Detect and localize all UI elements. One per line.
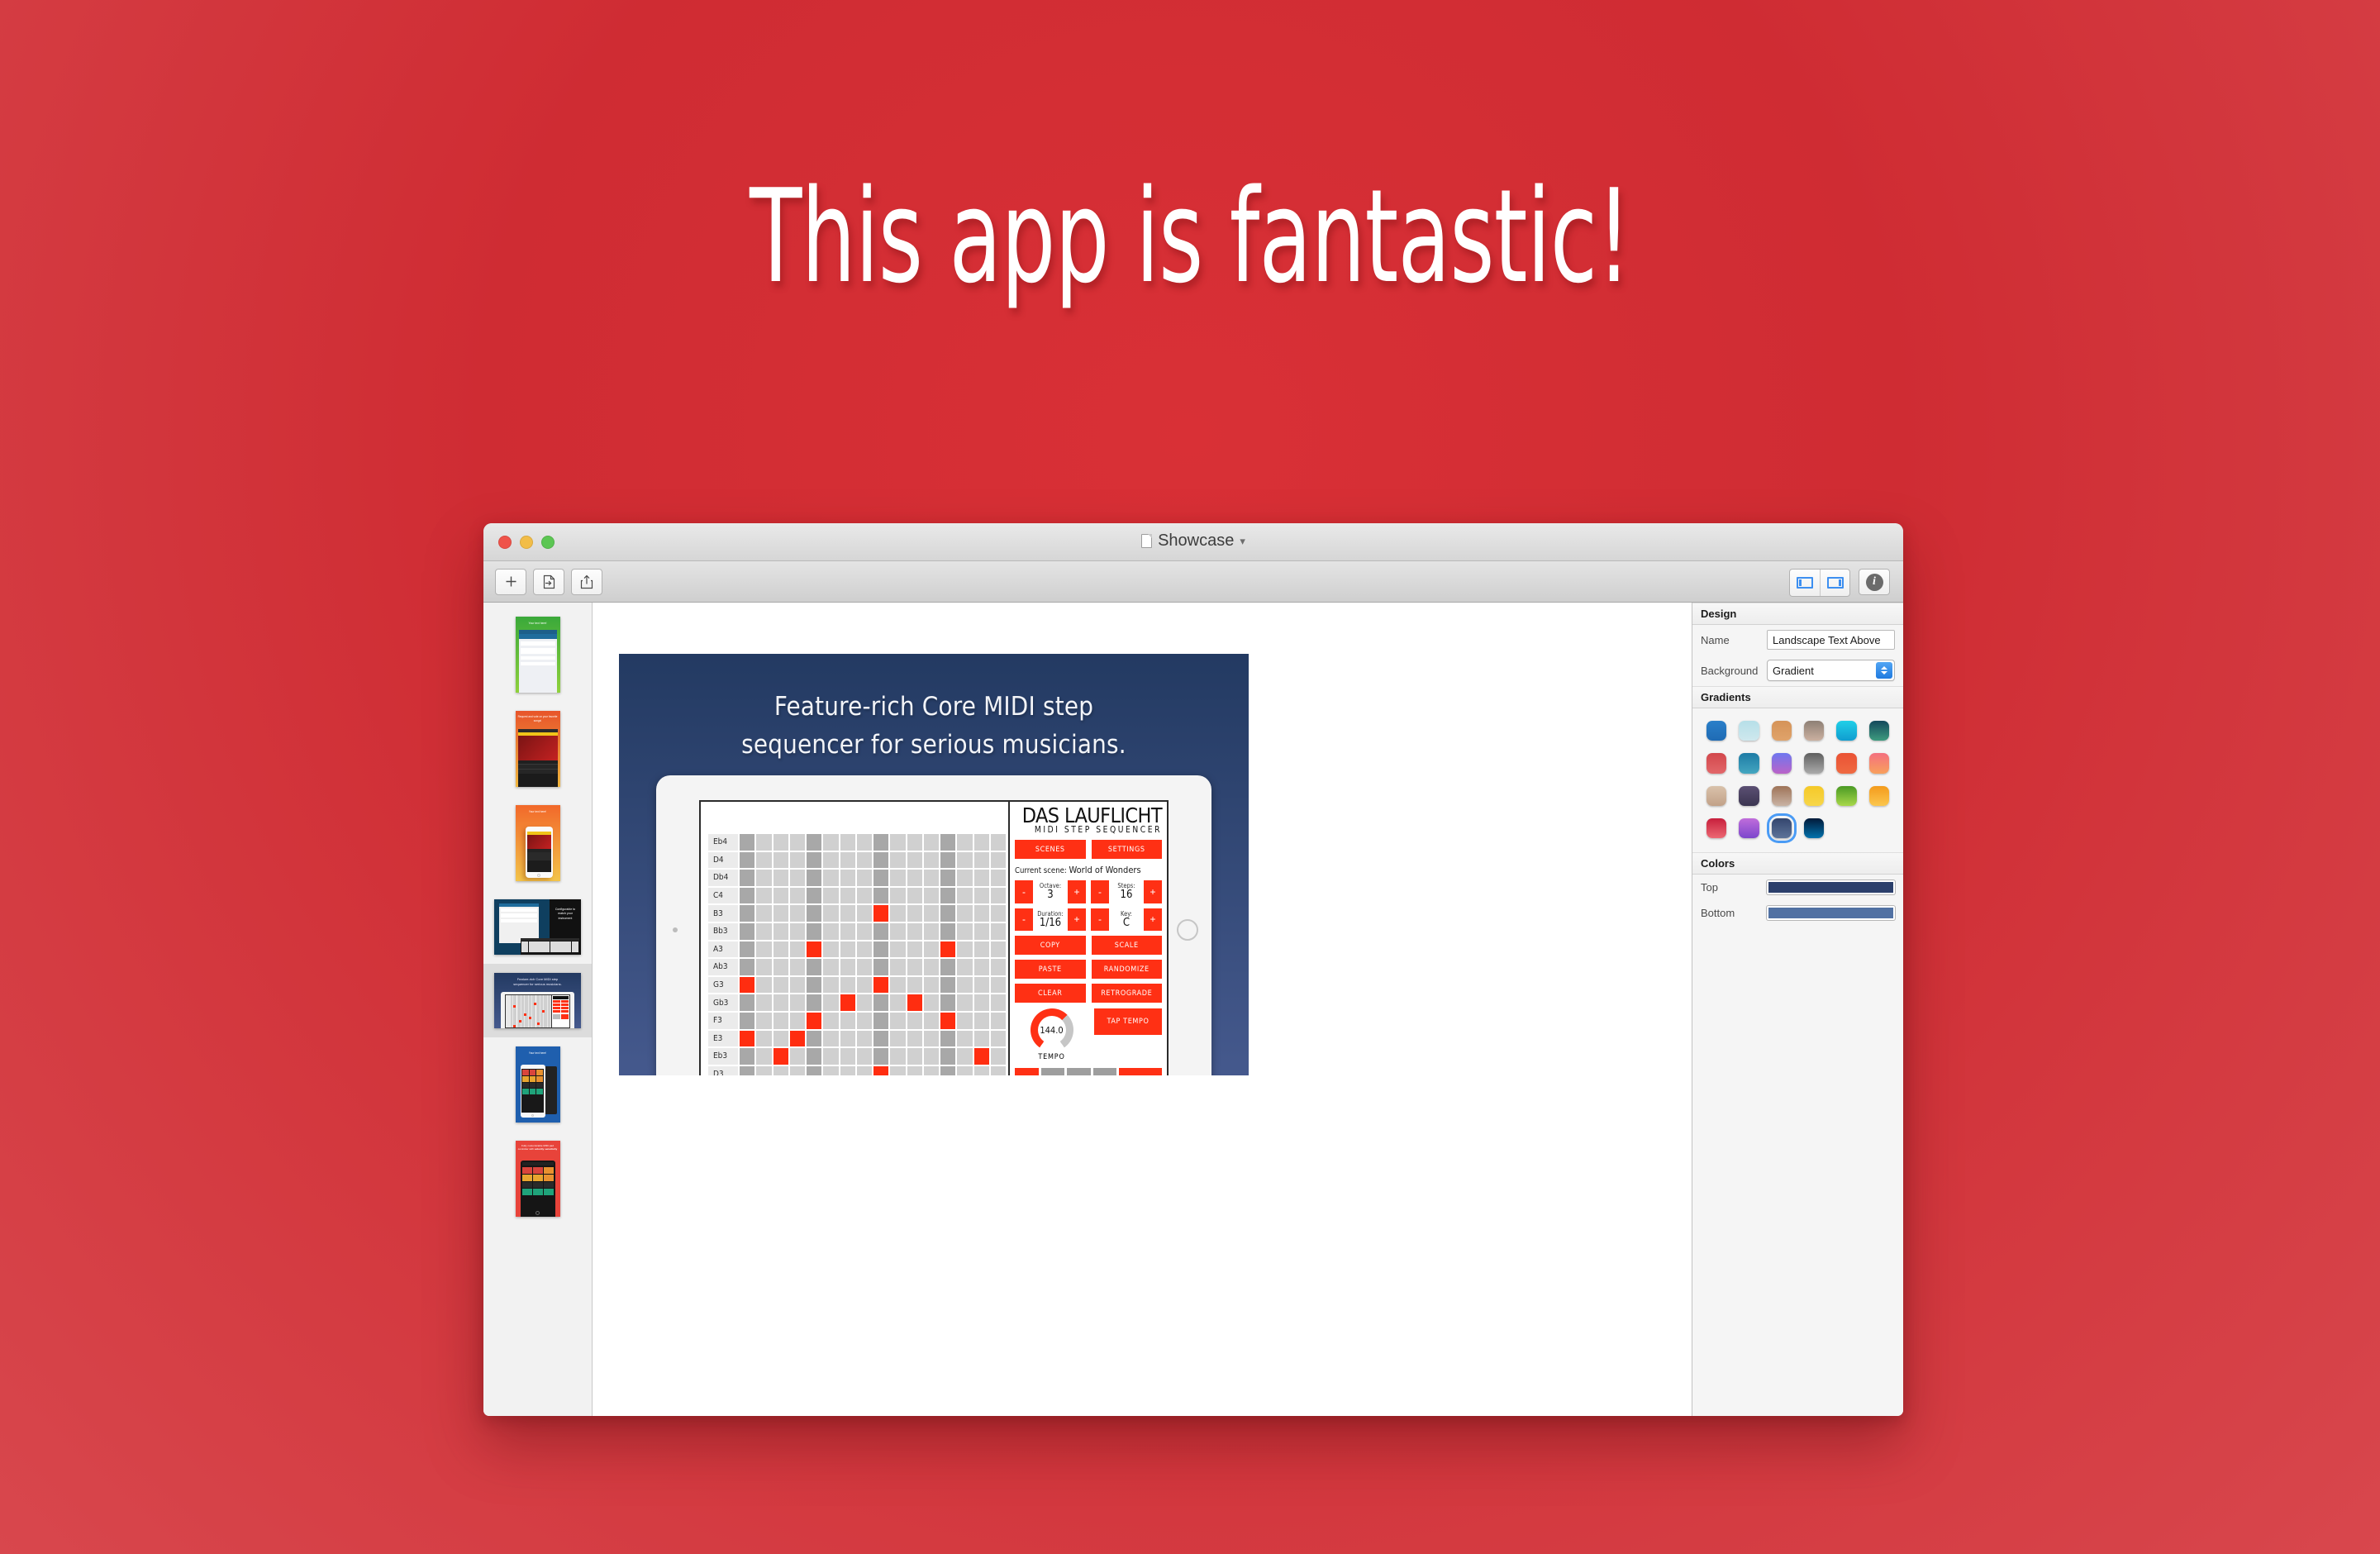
grid-cell[interactable] [940,869,956,887]
grid-cell[interactable] [973,958,990,976]
grid-cell[interactable] [907,976,923,994]
grid-cell[interactable] [907,1030,923,1048]
grid-cell[interactable] [773,922,789,941]
grid-cell[interactable] [990,1030,1007,1048]
list-item[interactable]: Request and vote on your favorite songs! [483,702,592,796]
grid-cell[interactable] [856,1030,873,1048]
grid-cell[interactable] [789,904,806,922]
grid-cell[interactable] [789,1047,806,1065]
grid-cell[interactable] [840,958,856,976]
grid-cell[interactable] [923,976,940,994]
slide-thumbnail-7[interactable]: Fully customizable MIDI pad controller w… [516,1141,560,1217]
grid-cell[interactable] [889,1030,906,1048]
grid-cell[interactable] [840,941,856,959]
grid-cell[interactable] [739,833,755,851]
grid-cell[interactable] [923,922,940,941]
gradient-swatch-5[interactable] [1834,718,1859,743]
grid-cell[interactable] [973,833,990,851]
grid-cell[interactable] [873,1065,889,1075]
gradient-swatch-2[interactable] [1736,718,1761,743]
grid-cell[interactable] [739,887,755,905]
scene-pad-grid[interactable]: 123456789101112 [1015,1068,1116,1075]
grid-cell[interactable] [973,1065,990,1075]
grid-cell[interactable] [923,887,940,905]
gradient-swatch-4[interactable] [1802,718,1826,743]
slide-navigator-sidebar[interactable]: Your text here! Request and vote on your… [483,603,593,1416]
grid-cell[interactable] [923,1047,940,1065]
grid-cell[interactable] [739,994,755,1012]
grid-cell[interactable] [840,904,856,922]
grid-cell[interactable] [889,869,906,887]
grid-cell[interactable] [755,869,772,887]
grid-cell[interactable] [873,869,889,887]
scenes-button[interactable]: SCENES [1015,840,1086,859]
grid-cell[interactable] [806,887,822,905]
import-document-button[interactable] [533,569,564,595]
grid-cell[interactable] [773,941,789,959]
gradient-swatch-19[interactable] [1704,816,1729,841]
grid-cell[interactable] [873,904,889,922]
grid-cell[interactable] [856,904,873,922]
clear-button[interactable]: CLEAR [1015,984,1086,1003]
grid-cell[interactable] [873,1012,889,1030]
grid-cell[interactable] [907,904,923,922]
scene-pad[interactable]: 4 [1093,1068,1117,1075]
sequencer-grid-pane[interactable]: Eb4D4Db4C4B3Bb3A3Ab3G3Gb3F3E3Eb3D3Db3C3 [701,802,1008,1075]
grid-cell[interactable] [940,851,956,870]
grid-cell[interactable] [739,1047,755,1065]
duration-plus-button[interactable]: + [1068,908,1086,932]
grid-cell[interactable] [990,1065,1007,1075]
grid-cell[interactable] [840,887,856,905]
list-item[interactable]: Your text here! [483,796,592,890]
grid-cell[interactable] [923,904,940,922]
grid-cell[interactable] [755,851,772,870]
grid-cell[interactable] [773,851,789,870]
grid-cell[interactable] [990,958,1007,976]
slide-content[interactable]: Feature-rich Core MIDI step sequencer fo… [619,654,1249,1075]
steps-stepper[interactable]: - Steps: 16 + [1091,880,1162,903]
grid-cell[interactable] [739,922,755,941]
grid-cell[interactable] [956,976,973,994]
grid-cell[interactable] [889,851,906,870]
grid-cell[interactable] [806,1030,822,1048]
stop-button[interactable]: STOP [1119,1068,1162,1075]
grid-cell[interactable] [840,869,856,887]
grid-cell[interactable] [773,994,789,1012]
grid-cell[interactable] [789,1012,806,1030]
sequencer-grid[interactable]: Eb4D4Db4C4B3Bb3A3Ab3G3Gb3F3E3Eb3D3Db3C3 [707,833,1007,1075]
grid-cell[interactable] [755,922,772,941]
gradient-swatch-18[interactable] [1867,784,1892,808]
grid-cell[interactable] [773,1047,789,1065]
grid-cell[interactable] [923,1065,940,1075]
grid-cell[interactable] [889,833,906,851]
gradient-swatch-11[interactable] [1834,751,1859,775]
grid-cell[interactable] [907,833,923,851]
grid-cell[interactable] [822,958,839,976]
grid-cell[interactable] [940,958,956,976]
grid-cell[interactable] [907,851,923,870]
gradient-swatch-13[interactable] [1704,784,1729,808]
gradient-swatch-8[interactable] [1736,751,1761,775]
grid-cell[interactable] [806,833,822,851]
share-button[interactable] [571,569,602,595]
grid-cell[interactable] [806,869,822,887]
grid-cell[interactable] [907,1012,923,1030]
grid-cell[interactable] [755,1030,772,1048]
grid-cell[interactable] [755,994,772,1012]
grid-cell[interactable] [755,833,772,851]
tempo-dial[interactable]: 144.0 [1031,1008,1073,1051]
key-stepper[interactable]: - Key: C + [1091,908,1162,932]
grid-cell[interactable] [739,958,755,976]
bottom-color-well[interactable] [1767,906,1895,920]
grid-cell[interactable] [856,1065,873,1075]
scale-button[interactable]: SCALE [1092,936,1163,955]
grid-cell[interactable] [822,1065,839,1075]
grid-cell[interactable] [889,1012,906,1030]
grid-cell[interactable] [956,1030,973,1048]
grid-cell[interactable] [840,851,856,870]
scene-pad[interactable]: 2 [1041,1068,1065,1075]
grid-cell[interactable] [973,887,990,905]
grid-cell[interactable] [822,941,839,959]
grid-cell[interactable] [856,976,873,994]
grid-cell[interactable] [907,941,923,959]
grid-cell[interactable] [806,958,822,976]
grid-cell[interactable] [956,851,973,870]
grid-cell[interactable] [789,851,806,870]
key-plus-button[interactable]: + [1144,908,1162,932]
grid-cell[interactable] [773,869,789,887]
grid-cell[interactable] [840,1047,856,1065]
duration-minus-button[interactable]: - [1015,908,1033,932]
grid-cell[interactable] [956,1047,973,1065]
gradient-swatch-12[interactable] [1867,751,1892,775]
grid-cell[interactable] [973,1047,990,1065]
grid-cell[interactable] [755,976,772,994]
grid-cell[interactable] [956,994,973,1012]
name-input[interactable]: Landscape Text Above [1767,630,1895,650]
gradient-swatch-21[interactable] [1769,816,1794,841]
list-item[interactable]: Feature-rich Core MIDI step sequencer fo… [483,964,592,1037]
gradient-swatch-3[interactable] [1769,718,1794,743]
grid-cell[interactable] [873,851,889,870]
slide-thumbnail-5-selected[interactable]: Feature-rich Core MIDI step sequencer fo… [494,973,581,1028]
grid-cell[interactable] [889,941,906,959]
chevron-updown-icon[interactable] [1876,662,1892,679]
grid-cell[interactable] [956,941,973,959]
grid-cell[interactable] [755,904,772,922]
grid-cell[interactable] [840,1030,856,1048]
grid-cell[interactable] [940,922,956,941]
grid-cell[interactable] [940,1065,956,1075]
grid-cell[interactable] [822,994,839,1012]
grid-cell[interactable] [789,976,806,994]
slide-thumbnail-4[interactable]: Configurable to match your instrument [494,899,581,955]
grid-cell[interactable] [973,994,990,1012]
grid-cell[interactable] [806,994,822,1012]
gradient-swatch-9[interactable] [1769,751,1794,775]
grid-cell[interactable] [990,994,1007,1012]
gradient-swatch-7[interactable] [1704,751,1729,775]
grid-cell[interactable] [755,1012,772,1030]
grid-cell[interactable] [739,976,755,994]
grid-cell[interactable] [973,976,990,994]
top-color-well[interactable] [1767,880,1895,894]
grid-cell[interactable] [822,887,839,905]
grid-cell[interactable] [822,1012,839,1030]
grid-cell[interactable] [923,1030,940,1048]
grid-cell[interactable] [840,922,856,941]
grid-cell[interactable] [873,833,889,851]
grid-cell[interactable] [889,976,906,994]
grid-cell[interactable] [889,922,906,941]
grid-cell[interactable] [856,958,873,976]
gradient-swatch-16[interactable] [1802,784,1826,808]
grid-cell[interactable] [840,1065,856,1075]
grid-cell[interactable] [739,1065,755,1075]
toggle-right-panel-button[interactable] [1820,570,1849,596]
grid-cell[interactable] [973,1012,990,1030]
grid-cell[interactable] [822,976,839,994]
grid-cell[interactable] [873,922,889,941]
gradient-swatch-17[interactable] [1834,784,1859,808]
grid-cell[interactable] [956,1065,973,1075]
grid-cell[interactable] [773,1030,789,1048]
grid-cell[interactable] [755,1065,772,1075]
document-title[interactable]: Showcase ▾ [483,532,1903,551]
octave-plus-button[interactable]: + [1068,880,1086,903]
copy-button[interactable]: COPY [1015,936,1086,955]
grid-cell[interactable] [789,887,806,905]
grid-cell[interactable] [856,941,873,959]
grid-cell[interactable] [923,869,940,887]
grid-cell[interactable] [873,941,889,959]
slide-thumbnail-3[interactable]: Your text here! [516,805,560,881]
grid-cell[interactable] [940,994,956,1012]
steps-plus-button[interactable]: + [1144,880,1162,903]
grid-cell[interactable] [755,887,772,905]
grid-cell[interactable] [806,941,822,959]
grid-cell[interactable] [789,958,806,976]
grid-cell[interactable] [822,1047,839,1065]
settings-button[interactable]: SETTINGS [1092,840,1163,859]
gradient-swatch-22[interactable] [1802,816,1826,841]
grid-cell[interactable] [773,904,789,922]
grid-cell[interactable] [873,1030,889,1048]
grid-cell[interactable] [956,958,973,976]
grid-cell[interactable] [956,833,973,851]
grid-cell[interactable] [990,904,1007,922]
grid-cell[interactable] [856,994,873,1012]
grid-cell[interactable] [990,887,1007,905]
grid-cell[interactable] [956,1012,973,1030]
grid-cell[interactable] [789,922,806,941]
grid-cell[interactable] [889,958,906,976]
grid-cell[interactable] [956,922,973,941]
grid-cell[interactable] [773,1065,789,1075]
grid-cell[interactable] [739,1012,755,1030]
grid-cell[interactable] [840,976,856,994]
add-slide-button[interactable] [495,569,526,595]
grid-cell[interactable] [806,922,822,941]
grid-cell[interactable] [873,958,889,976]
grid-cell[interactable] [856,1047,873,1065]
grid-cell[interactable] [990,941,1007,959]
grid-cell[interactable] [956,887,973,905]
grid-cell[interactable] [873,994,889,1012]
grid-cell[interactable] [789,869,806,887]
grid-cell[interactable] [923,833,940,851]
grid-cell[interactable] [739,869,755,887]
grid-cell[interactable] [907,994,923,1012]
octave-stepper[interactable]: - Octave: 3 + [1015,880,1086,903]
tempo-control[interactable]: 144.0 TEMPO [1015,1008,1088,1061]
tap-tempo-button[interactable]: TAP TEMPO [1094,1008,1162,1035]
retrograde-button[interactable]: RETROGRADE [1092,984,1163,1003]
duration-stepper[interactable]: - Duration: 1/16 + [1015,908,1086,932]
scene-pad[interactable]: 3 [1067,1068,1091,1075]
steps-minus-button[interactable]: - [1091,880,1109,903]
grid-cell[interactable] [822,904,839,922]
grid-cell[interactable] [907,958,923,976]
grid-cell[interactable] [806,976,822,994]
grid-cell[interactable] [789,1065,806,1075]
grid-cell[interactable] [907,1047,923,1065]
grid-cell[interactable] [973,904,990,922]
grid-cell[interactable] [956,869,973,887]
grid-cell[interactable] [973,869,990,887]
list-item[interactable]: Your text here! [483,608,592,702]
slide-canvas[interactable]: Feature-rich Core MIDI step sequencer fo… [593,603,1692,1416]
list-item[interactable]: Configurable to match your instrument [483,890,592,964]
grid-cell[interactable] [806,1065,822,1075]
grid-cell[interactable] [840,1012,856,1030]
grid-cell[interactable] [990,851,1007,870]
toggle-left-panel-button[interactable] [1790,570,1820,596]
grid-cell[interactable] [923,958,940,976]
grid-cell[interactable] [889,887,906,905]
grid-cell[interactable] [773,833,789,851]
grid-cell[interactable] [940,1030,956,1048]
gradient-swatch-6[interactable] [1867,718,1892,743]
grid-cell[interactable] [806,1047,822,1065]
grid-cell[interactable] [822,851,839,870]
grid-cell[interactable] [956,904,973,922]
grid-cell[interactable] [773,958,789,976]
grid-cell[interactable] [973,941,990,959]
grid-cell[interactable] [940,887,956,905]
grid-cell[interactable] [806,1012,822,1030]
grid-cell[interactable] [789,1030,806,1048]
grid-cell[interactable] [940,1012,956,1030]
grid-cell[interactable] [840,994,856,1012]
grid-cell[interactable] [940,904,956,922]
grid-cell[interactable] [889,904,906,922]
slide-title[interactable]: Feature-rich Core MIDI step sequencer fo… [619,689,1249,765]
grid-cell[interactable] [990,833,1007,851]
grid-cell[interactable] [990,976,1007,994]
grid-cell[interactable] [990,1012,1007,1030]
grid-cell[interactable] [789,994,806,1012]
gradient-swatch-20[interactable] [1736,816,1761,841]
background-select[interactable]: Gradient [1767,660,1895,681]
key-minus-button[interactable]: - [1091,908,1109,932]
slide-thumbnail-1[interactable]: Your text here! [516,617,560,693]
gradient-swatch-14[interactable] [1736,784,1761,808]
grid-cell[interactable] [856,1012,873,1030]
grid-cell[interactable] [940,833,956,851]
grid-cell[interactable] [806,904,822,922]
grid-cell[interactable] [822,833,839,851]
chevron-down-icon[interactable]: ▾ [1240,535,1245,548]
slide-thumbnail-2[interactable]: Request and vote on your favorite songs! [516,711,560,787]
grid-cell[interactable] [789,941,806,959]
grid-cell[interactable] [940,976,956,994]
grid-cell[interactable] [973,851,990,870]
gradient-swatch-10[interactable] [1802,751,1826,775]
gradient-swatch-grid[interactable] [1692,708,1903,852]
grid-cell[interactable] [940,1047,956,1065]
grid-cell[interactable] [755,941,772,959]
grid-cell[interactable] [923,941,940,959]
octave-minus-button[interactable]: - [1015,880,1033,903]
inspector-toggle-button[interactable]: i [1859,569,1890,595]
grid-cell[interactable] [856,887,873,905]
grid-cell[interactable] [889,1065,906,1075]
grid-cell[interactable] [739,941,755,959]
grid-cell[interactable] [990,1047,1007,1065]
grid-cell[interactable] [822,1030,839,1048]
grid-cell[interactable] [907,1065,923,1075]
gradient-swatch-1[interactable] [1704,718,1729,743]
grid-cell[interactable] [822,922,839,941]
grid-cell[interactable] [940,941,956,959]
grid-cell[interactable] [873,1047,889,1065]
grid-cell[interactable] [889,994,906,1012]
grid-cell[interactable] [773,976,789,994]
grid-cell[interactable] [873,976,889,994]
grid-cell[interactable] [923,1012,940,1030]
grid-cell[interactable] [973,1030,990,1048]
grid-cell[interactable] [806,851,822,870]
grid-cell[interactable] [755,1047,772,1065]
list-item[interactable]: Fully customizable MIDI pad controller w… [483,1132,592,1226]
grid-cell[interactable] [773,1012,789,1030]
grid-cell[interactable] [907,887,923,905]
grid-cell[interactable] [889,1047,906,1065]
grid-cell[interactable] [923,851,940,870]
paste-button[interactable]: PASTE [1015,960,1086,979]
grid-cell[interactable] [822,869,839,887]
grid-cell[interactable] [840,833,856,851]
grid-cell[interactable] [739,904,755,922]
grid-cell[interactable] [739,851,755,870]
grid-cell[interactable] [856,869,873,887]
randomize-button[interactable]: RANDOMIZE [1092,960,1163,979]
slide-thumbnail-6[interactable]: Your text here! [516,1046,560,1123]
grid-cell[interactable] [990,869,1007,887]
scene-pad[interactable]: 1 [1015,1068,1039,1075]
grid-cell[interactable] [923,994,940,1012]
gradient-swatch-15[interactable] [1769,784,1794,808]
grid-cell[interactable] [856,833,873,851]
grid-cell[interactable] [973,922,990,941]
grid-cell[interactable] [856,922,873,941]
grid-cell[interactable] [739,1030,755,1048]
